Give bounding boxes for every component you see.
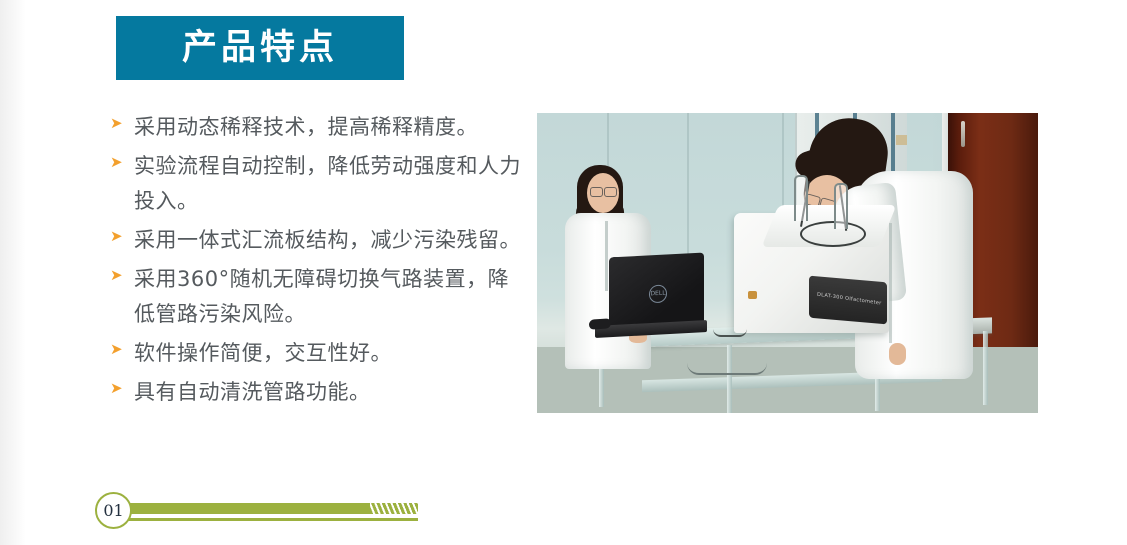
door-handle xyxy=(961,121,965,147)
feature-text: 具有自动清洗管路功能。 xyxy=(134,375,525,410)
coat-seam xyxy=(889,223,892,343)
sample-tube xyxy=(834,183,848,229)
table-leg xyxy=(983,331,988,405)
feature-text: 软件操作简便，交互性好。 xyxy=(134,336,525,371)
bullet-arrow-icon: ➤ xyxy=(110,110,134,131)
feature-text: 实验流程自动控制，降低劳动强度和人力投入。 xyxy=(134,149,525,219)
photo-scene: DLAT-300 Olfactometer DELL xyxy=(537,113,1038,413)
list-item: ➤ 采用一体式汇流板结构，减少污染残留。 xyxy=(110,223,525,258)
laptop-brand-logo: DELL xyxy=(649,284,667,303)
list-item: ➤ 软件操作简便，交互性好。 xyxy=(110,336,525,371)
bullet-arrow-icon: ➤ xyxy=(110,336,134,357)
list-item: ➤ 实验流程自动控制，降低劳动强度和人力投入。 xyxy=(110,149,525,219)
page-left-edge-shade xyxy=(0,0,26,545)
instrument-panel: DLAT-300 Olfactometer xyxy=(809,276,887,325)
coat-placket xyxy=(605,221,608,291)
feature-text: 采用一体式汇流板结构，减少污染残留。 xyxy=(134,223,525,258)
computer-mouse xyxy=(589,318,611,330)
feature-text: 采用动态稀释技术，提高稀释精度。 xyxy=(134,110,525,145)
cable xyxy=(687,363,767,375)
instrument-ring xyxy=(800,221,866,247)
hand xyxy=(889,343,906,365)
cable xyxy=(713,329,747,337)
glasses xyxy=(590,187,603,197)
bullet-arrow-icon: ➤ xyxy=(110,262,134,283)
list-item: ➤ 具有自动清洗管路功能。 xyxy=(110,375,525,410)
page-number-circle: 01 xyxy=(95,492,132,529)
page-number: 01 xyxy=(103,503,123,519)
sample-tube xyxy=(794,175,808,221)
footer-bar-stripes xyxy=(370,503,418,514)
product-photo: DLAT-300 Olfactometer DELL xyxy=(537,113,1038,413)
instrument-knob xyxy=(748,291,757,299)
footer-page-banner: 01 xyxy=(95,490,435,532)
bullet-arrow-icon: ➤ xyxy=(110,223,134,244)
footer-underline xyxy=(116,518,418,521)
section-title-box: 产品特点 xyxy=(116,16,404,80)
list-item: ➤ 采用动态稀释技术，提高稀释精度。 xyxy=(110,110,525,145)
laptop-lid: DELL xyxy=(609,253,704,328)
feature-text: 采用360°随机无障碍切换气路装置，降低管路污染风险。 xyxy=(134,262,525,332)
olfactometer-instrument: DLAT-300 Olfactometer xyxy=(734,213,889,333)
instrument-label: DLAT-300 Olfactometer xyxy=(817,292,882,307)
table-leg xyxy=(727,345,732,413)
feature-list: ➤ 采用动态稀释技术，提高稀释精度。 ➤ 实验流程自动控制，降低劳动强度和人力投… xyxy=(110,110,525,414)
page-title: 产品特点 xyxy=(182,31,338,66)
list-item: ➤ 采用360°随机无障碍切换气路装置，降低管路污染风险。 xyxy=(110,262,525,332)
bullet-arrow-icon: ➤ xyxy=(110,149,134,170)
bullet-arrow-icon: ➤ xyxy=(110,375,134,396)
glasses xyxy=(604,187,617,197)
cabinet-label xyxy=(896,135,907,145)
